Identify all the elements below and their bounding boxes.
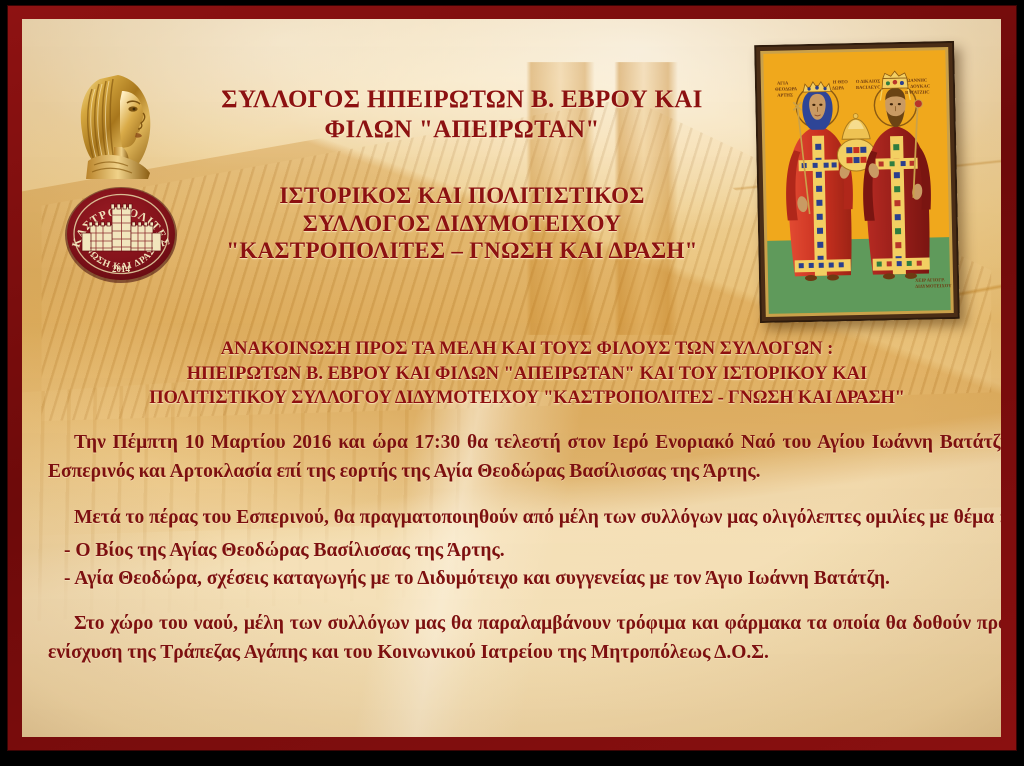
seal-year-text: 2014	[112, 264, 131, 274]
association-title: ΙΣΤΟΡΙΚΟΣ ΚΑΙ ΠΟΛΙΤΙΣΤΙΚΟΣ ΣΥΛΛΟΓΟΣ ΔΙΔΥ…	[152, 182, 772, 265]
byzantine-saints-icon: ΑΓΙΑ ΘΕΟΔΩΡΑ ΑΡΤΗΣ Η ΘΕΟ ΔΩΡΑ Ο ΔΙΚΑΙΟΣ …	[754, 41, 960, 323]
svg-text:ΧΕΙΡ ΑΓΙΟΓΡ.: ΧΕΙΡ ΑΓΙΟΓΡ.	[915, 277, 945, 283]
assoc-title-line-1: ΙΣΤΟΡΙΚΟΣ ΚΑΙ ΠΟΛΙΤΙΣΤΙΚΟΣ	[152, 182, 772, 210]
svg-text:ΑΡΤΗΣ: ΑΡΤΗΣ	[777, 92, 793, 97]
svg-text:ΙΩΑΝΝΗC: ΙΩΑΝΝΗC	[905, 78, 927, 83]
poster-canvas: ΚΑΣΤΡΟΠΟΛΙΤΕΣ ΓΝΩΣΗ ΚΑΙ ΔΡΑΣΗ 2014	[22, 19, 1001, 737]
poster-root: ΚΑΣΤΡΟΠΟΛΙΤΕΣ ΓΝΩΣΗ ΚΑΙ ΔΡΑΣΗ 2014	[0, 0, 1024, 766]
bullet-item-1: - Ο Βίος της Αγίας Θεοδώρας Βασίλισσας τ…	[48, 537, 1001, 565]
paragraph-donations: Στο χώρο του ναού, μέλη των συλλόγων μας…	[48, 610, 1001, 667]
svg-text:ΘΕΟΔΩΡΑ: ΘΕΟΔΩΡΑ	[775, 86, 798, 91]
paragraph-3-text: Στο χώρο του ναού, μέλη των συλλόγων μας…	[48, 613, 1001, 663]
svg-text:ΒΑCΙΛΕΥC: ΒΑCΙΛΕΥC	[856, 84, 881, 90]
announcement-line-3: ΠΟΛΙΤΙΣΤΙΚΟΥ ΣΥΛΛΟΓΟΥ ΔΙΔΥΜΟΤΕΙΧΟΥ "ΚΑΣΤ…	[46, 386, 1001, 411]
poster-frame: ΚΑΣΤΡΟΠΟΛΙΤΕΣ ΓΝΩΣΗ ΚΑΙ ΔΡΑΣΗ 2014	[8, 6, 1016, 750]
paragraph-2-text: Μετά το πέρας του Εσπερινού, θα πραγματο…	[74, 507, 1001, 528]
organization-title: ΣΥΛΛΟΓΟΣ ΗΠΕΙΡΩΤΩΝ Β. ΕΒΡΟΥ ΚΑΙ ΦΙΛΩΝ "Α…	[152, 85, 772, 145]
svg-text:ΔΙΔΥΜΟΤΕΙΧΟΥ: ΔΙΔΥΜΟΤΕΙΧΟΥ	[915, 283, 952, 289]
svg-text:Ο ΔΙΚΑΙΟΣ: Ο ΔΙΚΑΙΟΣ	[856, 78, 880, 84]
paragraph-talks-intro: Μετά το πέρας του Εσπερινού, θα πραγματο…	[48, 504, 1001, 533]
svg-text:ΑΓΙΑ: ΑΓΙΑ	[777, 80, 789, 85]
org-title-line-1: ΣΥΛΛΟΓΟΣ ΗΠΕΙΡΩΤΩΝ Β. ΕΒΡΟΥ ΚΑΙ	[152, 85, 772, 115]
assoc-title-line-3: "ΚΑΣΤΡΟΠΟΛΙΤΕΣ – ΓΝΩΣΗ ΚΑΙ ΔΡΑΣΗ"	[152, 237, 772, 265]
announcement-heading: ΑΝΑΚΟΙΝΩΣΗ ΠΡΟΣ ΤΑ ΜΕΛΗ ΚΑΙ ΤΟΥΣ ΦΙΛΟΥΣ …	[46, 337, 1001, 411]
org-title-line-2: ΦΙΛΩΝ "ΑΠΕΙΡΩΤΑΝ"	[152, 115, 772, 145]
body-copy: Την Πέμπτη 10 Μαρτίου 2016 και ώρα 17:30…	[48, 429, 1001, 668]
gold-bust-emblem-icon	[70, 69, 162, 181]
paragraph-1-text: Την Πέμπτη 10 Μαρτίου 2016 και ώρα 17:30…	[48, 432, 1001, 482]
assoc-title-line-2: ΣΥΛΛΟΓΟΣ ΔΙΔΥΜΟΤΕΙΧΟΥ	[152, 210, 772, 238]
svg-text:ΔΩΡΑ: ΔΩΡΑ	[832, 85, 845, 90]
paragraph-event-details: Την Πέμπτη 10 Μαρτίου 2016 και ώρα 17:30…	[48, 429, 1001, 486]
announcement-line-2: ΗΠΕΙΡΩΤΩΝ Β. ΕΒΡΟΥ ΚΑΙ ΦΙΛΩΝ "ΑΠΕΙΡΩΤΑΝ"…	[46, 362, 1001, 387]
svg-text:Η ΘΕΟ: Η ΘΕΟ	[833, 79, 848, 84]
announcement-line-1: ΑΝΑΚΟΙΝΩΣΗ ΠΡΟΣ ΤΑ ΜΕΛΗ ΚΑΙ ΤΟΥΣ ΦΙΛΟΥΣ …	[46, 337, 1001, 362]
bullet-item-2: - Αγία Θεοδώρα, σχέσεις καταγωγής με το …	[48, 565, 1001, 593]
poster-content: ΚΑΣΤΡΟΠΟΛΙΤΕΣ ΓΝΩΣΗ ΚΑΙ ΔΡΑΣΗ 2014	[22, 19, 1001, 737]
